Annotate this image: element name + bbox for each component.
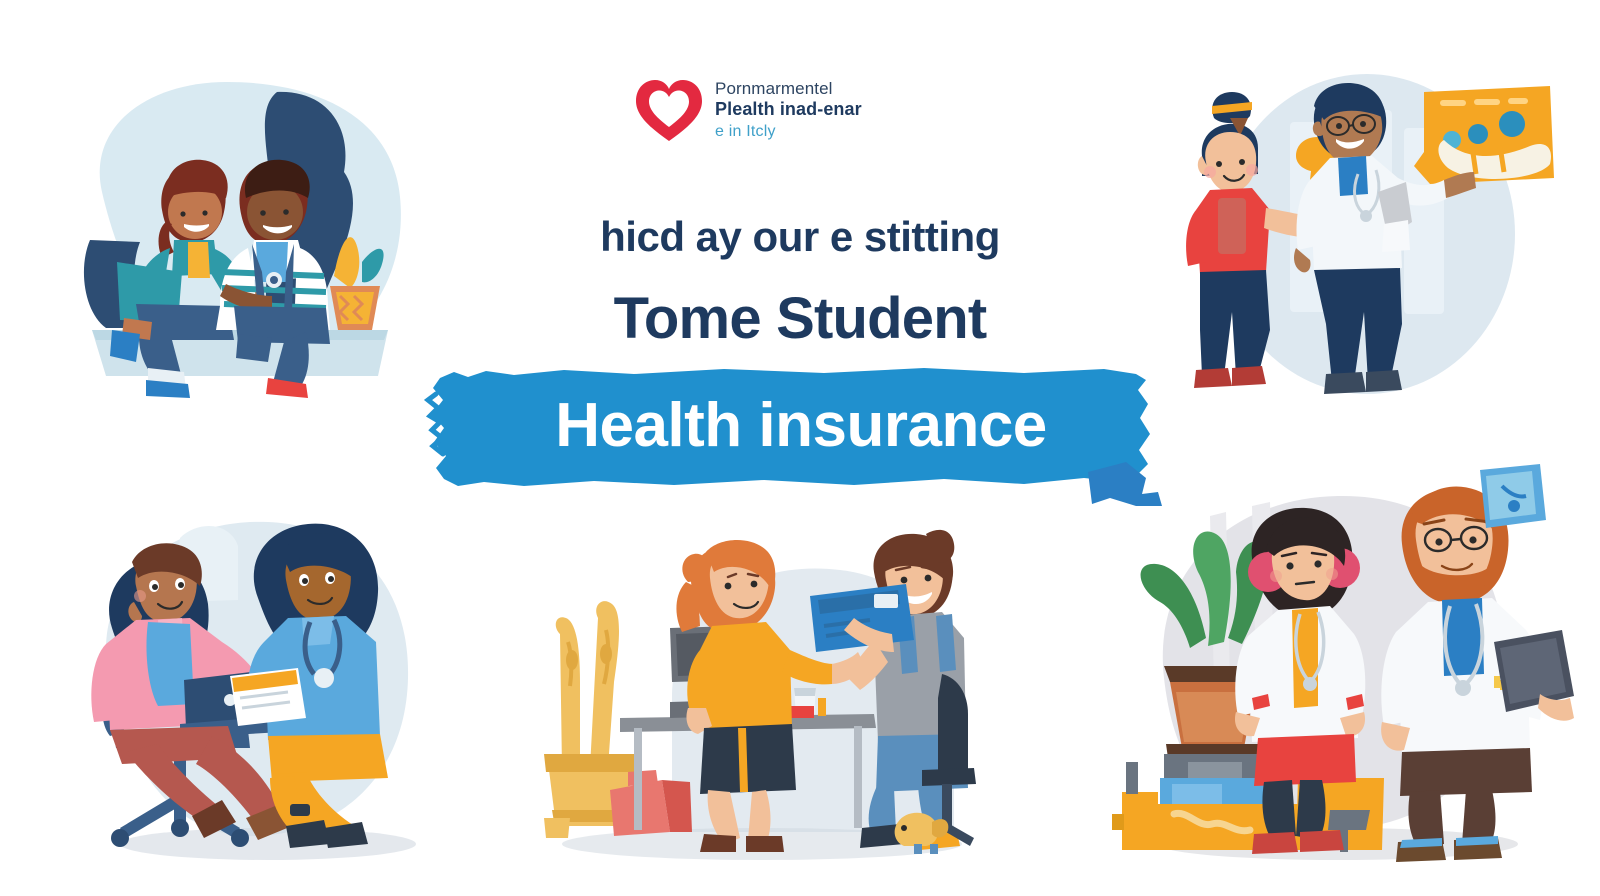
brand-line-3: e in Itcly xyxy=(715,123,862,141)
brand-line-2: Plealth inad-enar xyxy=(715,99,862,120)
illustration-medical-team xyxy=(1102,462,1558,870)
illustration-card-handover xyxy=(522,522,978,870)
brand-logo: Pornmarmentel Plealth inad-enar e in Itc… xyxy=(633,73,862,145)
brand-logo-text: Pornmarmentel Plealth inad-enar e in Itc… xyxy=(715,73,862,141)
heart-icon xyxy=(633,77,705,145)
banner-highlight: Health insurance xyxy=(424,364,1164,490)
brand-line-1: Pornmarmentel xyxy=(715,79,862,98)
illustration-doctor-chart xyxy=(1162,62,1560,410)
banner-text: Health insurance xyxy=(424,364,1164,490)
illustration-consultation xyxy=(62,492,460,868)
illustration-students-sitting xyxy=(62,72,418,402)
poster-canvas: Pornmarmentel Plealth inad-enar e in Itc… xyxy=(0,0,1600,896)
